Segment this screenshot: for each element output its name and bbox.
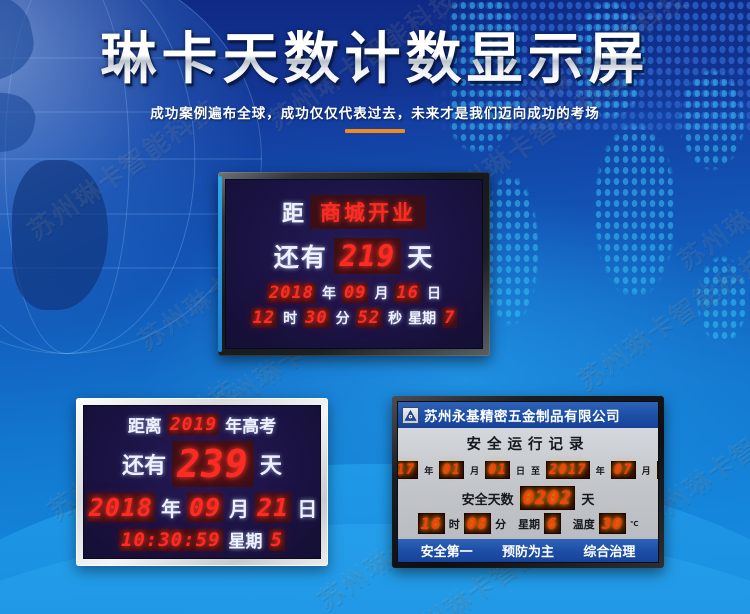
board-bezel-silver: 距离 2019 年高考 还有 239 天 2018 年 09 月 21 日 10… <box>76 398 328 566</box>
gaokao-date-year-value: 2018 <box>87 493 155 522</box>
safety-slogan: 预防为主 <box>502 541 554 560</box>
countdown-remaining-label: 还有 <box>274 238 328 274</box>
gaokao-days-row: 还有 239 天 <box>122 441 282 487</box>
date-year-value: 2018 <box>267 283 316 303</box>
led-board-countdown-top: 距 商城开业 还有 219 天 2018 年 09 月 16 日 12 时 30… <box>218 172 490 356</box>
page-title: 琳卡天数计数显示屏 <box>0 30 750 90</box>
countdown-days-row: 还有 219 天 <box>274 238 434 274</box>
date-month-value: 09 <box>342 283 368 303</box>
date-year-unit: 年 <box>322 283 336 303</box>
time-hour-unit: 时 <box>283 308 297 328</box>
led-screen-top: 距 商城开业 还有 219 天 2018 年 09 月 16 日 12 时 30… <box>225 179 483 349</box>
range-from-day-unit: 日 <box>516 464 525 477</box>
time-minute-value: 30 <box>303 308 329 328</box>
board-bezel-black: 苏州永基精密五金制品有限公司 安全运行记录 自 2017 年 01 月 01 日… <box>392 396 664 568</box>
led-screen-bottom-left: 距离 2019 年高考 还有 239 天 2018 年 09 月 21 日 10… <box>83 405 321 559</box>
date-day-value: 16 <box>394 283 420 303</box>
safety-status-row: 16 时 08 分 星期 6 温度 30 ℃ <box>418 513 639 534</box>
range-from-day: 01 <box>485 461 510 479</box>
gaokao-date-day-value: 21 <box>255 493 291 522</box>
gaokao-time-value: 10:30:59 <box>119 529 223 551</box>
safety-company-name: 苏州永基精密五金制品有限公司 <box>424 405 620 425</box>
date-month-unit: 月 <box>374 283 388 303</box>
range-to-label: 至 <box>531 464 540 477</box>
range-to-year-unit: 年 <box>596 464 605 477</box>
countdown-event-row: 距 商城开业 <box>282 195 426 229</box>
page-subtitle: 成功案例遍布全球，成功仅仅代表过去，未来才是我们迈向成功的考场 <box>0 102 750 122</box>
safety-weekday-label: 星期 <box>518 516 540 532</box>
countdown-days-value: 219 <box>334 238 401 274</box>
safety-temp-label: 温度 <box>573 516 595 532</box>
gaokao-days-value: 239 <box>172 441 254 487</box>
safety-date-range-row: 自 2017 年 01 月 01 日 至 2017 年 07 月 22 日止 <box>397 457 659 483</box>
gaokao-date-month-unit: 月 <box>229 493 249 522</box>
safety-weekday-value: 6 <box>544 513 561 534</box>
date-day-unit: 日 <box>427 283 441 303</box>
safety-minute-unit: 分 <box>495 516 506 532</box>
page-header: 琳卡天数计数显示屏 成功案例遍布全球，成功仅仅代表过去，未来才是我们迈向成功的考… <box>0 30 750 133</box>
safety-days-row: 安全天数 0202 天 <box>462 486 595 510</box>
range-to-year: 2017 <box>546 461 590 479</box>
board-bezel-dark: 距 商城开业 还有 219 天 2018 年 09 月 16 日 12 时 30… <box>218 172 490 356</box>
gaokao-weekday-value: 5 <box>269 529 285 551</box>
range-from-year: 2017 <box>397 461 418 479</box>
range-to-day: 22 <box>657 461 659 479</box>
countdown-prefix: 距 <box>282 196 304 228</box>
safety-slogan: 安全第一 <box>421 541 473 560</box>
time-row: 12 时 30 分 52 秒 星期 7 <box>251 308 458 328</box>
range-from-month-unit: 月 <box>470 464 479 477</box>
safety-triangle-logo-icon <box>402 407 419 424</box>
weekday-value: 7 <box>442 308 457 328</box>
safety-hour-unit: 时 <box>449 516 460 532</box>
time-minute-unit: 分 <box>336 308 350 328</box>
countdown-days-unit: 天 <box>407 238 434 274</box>
range-to-month: 07 <box>611 461 636 479</box>
time-hour-value: 12 <box>251 308 277 328</box>
safe-days-value: 0202 <box>520 486 576 510</box>
gaokao-date-year-unit: 年 <box>161 493 181 522</box>
safety-temp-unit: ℃ <box>630 520 638 528</box>
safety-slogan: 综合治理 <box>583 541 635 560</box>
gaokao-title-row: 距离 2019 年高考 <box>128 412 276 437</box>
led-board-gaokao-countdown: 距离 2019 年高考 还有 239 天 2018 年 09 月 21 日 10… <box>76 398 328 566</box>
safe-days-label: 安全天数 <box>462 489 514 508</box>
gaokao-date-month-value: 09 <box>187 493 223 522</box>
gaokao-date-day-unit: 日 <box>297 493 317 522</box>
safety-hour-value: 16 <box>418 513 445 534</box>
gaokao-remaining-label: 还有 <box>122 448 166 480</box>
safety-temp-value: 30 <box>599 513 626 534</box>
safety-panel: 苏州永基精密五金制品有限公司 安全运行记录 自 2017 年 01 月 01 日… <box>397 401 659 563</box>
header-divider <box>345 129 405 133</box>
range-from-year-unit: 年 <box>424 464 433 477</box>
led-board-safety-record: 苏州永基精密五金制品有限公司 安全运行记录 自 2017 年 01 月 01 日… <box>392 396 664 568</box>
weekday-label: 星期 <box>408 308 436 328</box>
safe-days-unit: 天 <box>581 489 594 508</box>
range-to-month-unit: 月 <box>642 464 651 477</box>
gaokao-time-row: 10:30:59 星期 5 <box>119 527 285 552</box>
safety-minute-value: 08 <box>464 513 491 534</box>
range-from-month: 01 <box>439 461 464 479</box>
safety-panel-header: 苏州永基精密五金制品有限公司 <box>398 402 658 428</box>
gaokao-year-value: 2019 <box>168 414 219 435</box>
safety-panel-body: 安全运行记录 自 2017 年 01 月 01 日 至 2017 年 07 月 … <box>398 428 658 539</box>
gaokao-suffix: 年高考 <box>225 412 276 437</box>
countdown-event-name: 商城开业 <box>310 195 426 229</box>
time-second-value: 52 <box>356 308 382 328</box>
gaokao-days-unit: 天 <box>260 448 282 480</box>
gaokao-prefix: 距离 <box>128 412 162 437</box>
time-second-unit: 秒 <box>388 308 402 328</box>
safety-section-title: 安全运行记录 <box>467 433 590 454</box>
safety-slogan-bar: 安全第一 预防为主 综合治理 <box>398 539 658 562</box>
date-row: 2018 年 09 月 16 日 <box>267 283 441 303</box>
gaokao-weekday-label: 星期 <box>229 527 263 552</box>
gaokao-date-row: 2018 年 09 月 21 日 <box>87 493 317 522</box>
